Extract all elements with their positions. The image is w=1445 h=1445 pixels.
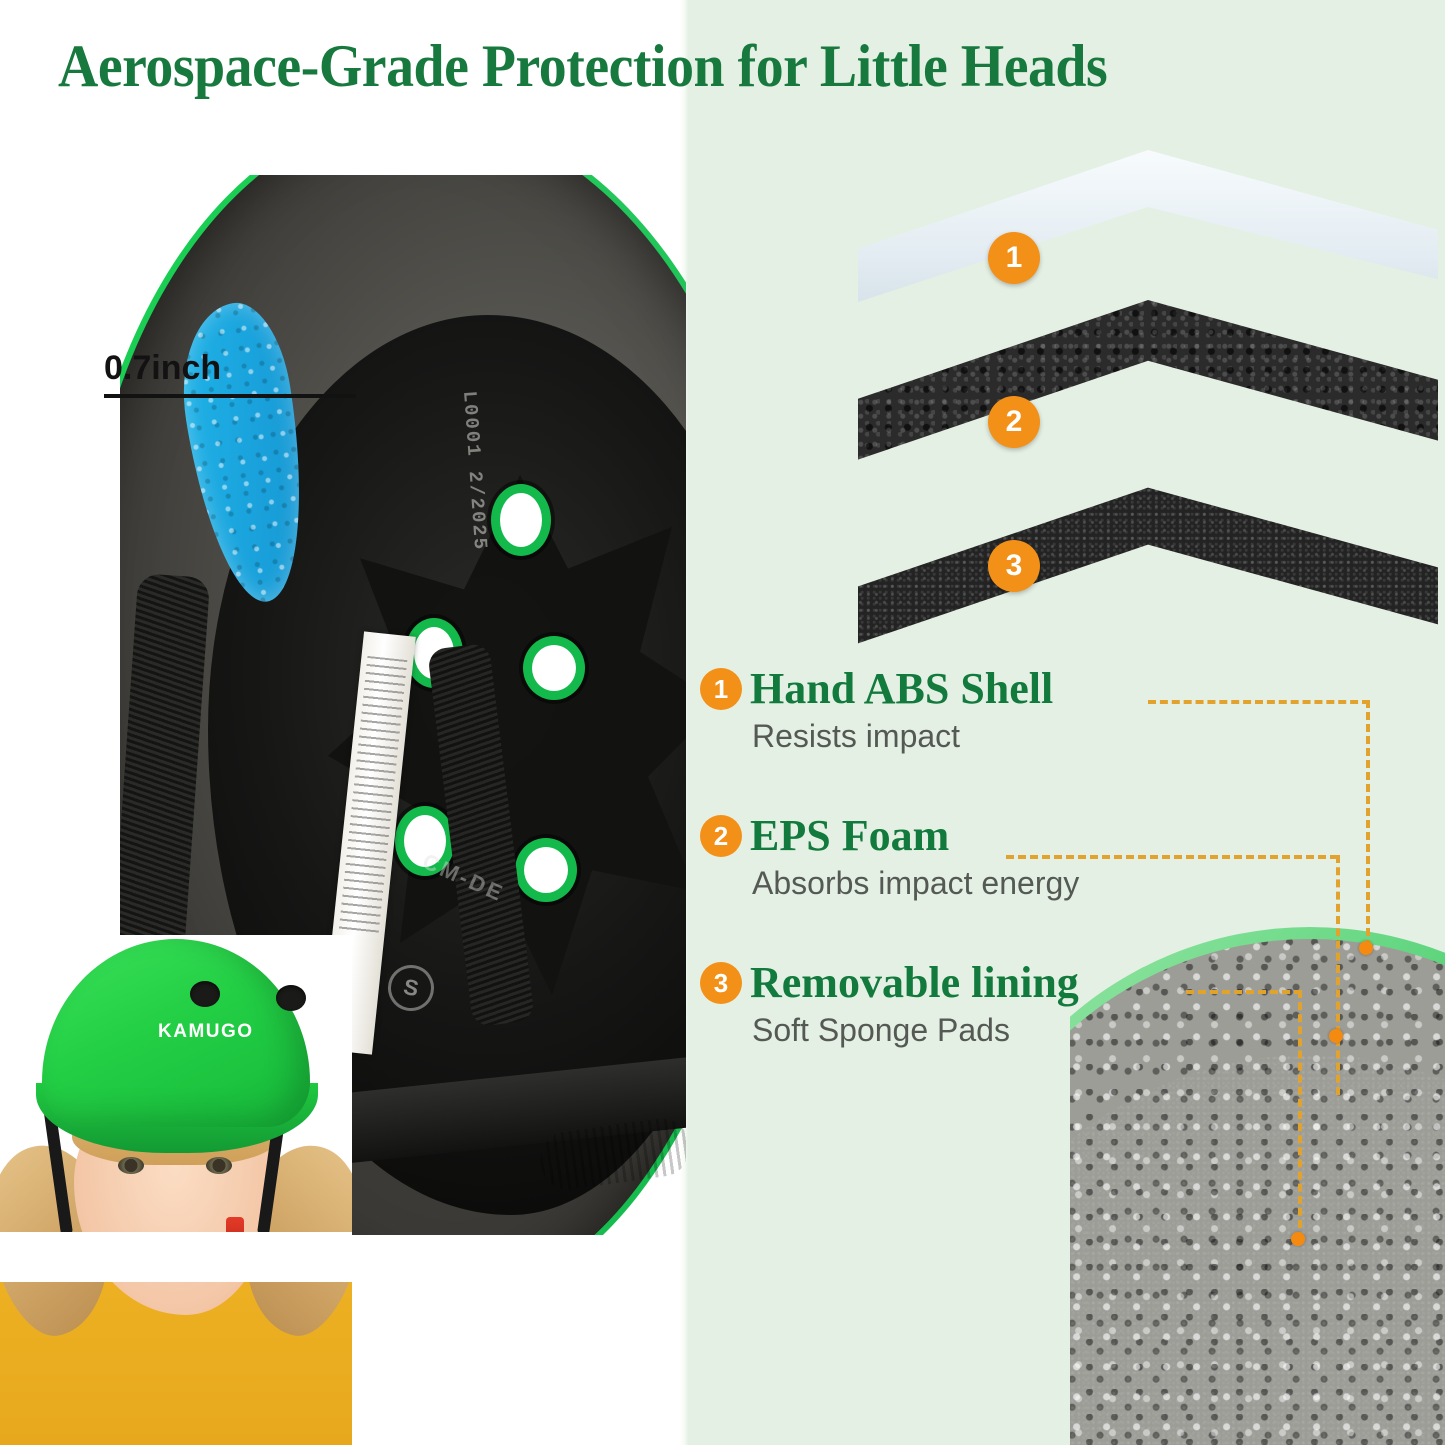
feature-item-1: 1 Hand ABS Shell Resists impact	[700, 664, 1240, 756]
layer-badge-3: 3	[988, 540, 1040, 592]
child-eye	[118, 1157, 144, 1174]
feature-title-3: Removable lining	[750, 958, 1079, 1008]
feature-1-heading-row: 1 Hand ABS Shell	[700, 664, 1240, 714]
lining-layer	[858, 480, 1438, 670]
photo-edge-mask	[0, 1232, 352, 1282]
feature-title-2: EPS Foam	[750, 811, 949, 861]
feature-2-heading-row: 2 EPS Foam	[700, 811, 1240, 861]
vent-hole	[524, 847, 568, 893]
feature-list: 1 Hand ABS Shell Resists impact 2 EPS Fo…	[700, 664, 1240, 1105]
connector-1-endpoint-dot	[1359, 941, 1373, 955]
eps-foam-layer	[858, 300, 1438, 490]
feature-item-3: 3 Removable lining Soft Sponge Pads	[700, 958, 1240, 1050]
connector-3-endpoint-dot	[1291, 1232, 1305, 1246]
layer-badge-2: 2	[988, 396, 1040, 448]
vent-hole	[532, 645, 576, 691]
feature-title-1: Hand ABS Shell	[750, 664, 1053, 714]
brand-logo-text: KAMUGO	[158, 1021, 254, 1043]
connector-2-endpoint-dot	[1329, 1029, 1343, 1043]
layer-badge-1: 1	[988, 232, 1040, 284]
connector-3-vertical	[1298, 990, 1302, 1240]
feature-item-2: 2 EPS Foam Absorbs impact energy	[700, 811, 1240, 903]
measurement-label: 0.7inch	[104, 346, 364, 390]
measurement-leader-line	[104, 394, 356, 398]
feature-3-heading-row: 3 Removable lining	[700, 958, 1240, 1008]
feature-badge-2: 2	[700, 815, 742, 857]
thickness-measurement: 0.7inch	[104, 346, 364, 416]
page-title: Aerospace-Grade Protection for Little He…	[58, 30, 1295, 102]
feature-subtitle-3: Soft Sponge Pads	[752, 1010, 1240, 1050]
helmet-top-vent	[190, 981, 220, 1007]
exploded-layer-diagram	[858, 150, 1438, 670]
infographic-canvas: Aerospace-Grade Protection for Little He…	[0, 0, 1445, 1445]
vent-hole	[500, 493, 542, 547]
feature-badge-1: 1	[700, 668, 742, 710]
child-wearing-helmet-photo: KAMUGO	[0, 935, 352, 1445]
feature-badge-3: 3	[700, 962, 742, 1004]
helmet-top-vent	[276, 985, 306, 1011]
connector-1-vertical	[1366, 700, 1370, 948]
edge-black-lining	[1070, 1055, 1445, 1445]
child-eye	[206, 1157, 232, 1174]
connector-2-vertical	[1336, 855, 1340, 1095]
feature-subtitle-2: Absorbs impact energy	[752, 863, 1240, 903]
feature-subtitle-1: Resists impact	[752, 716, 1240, 756]
